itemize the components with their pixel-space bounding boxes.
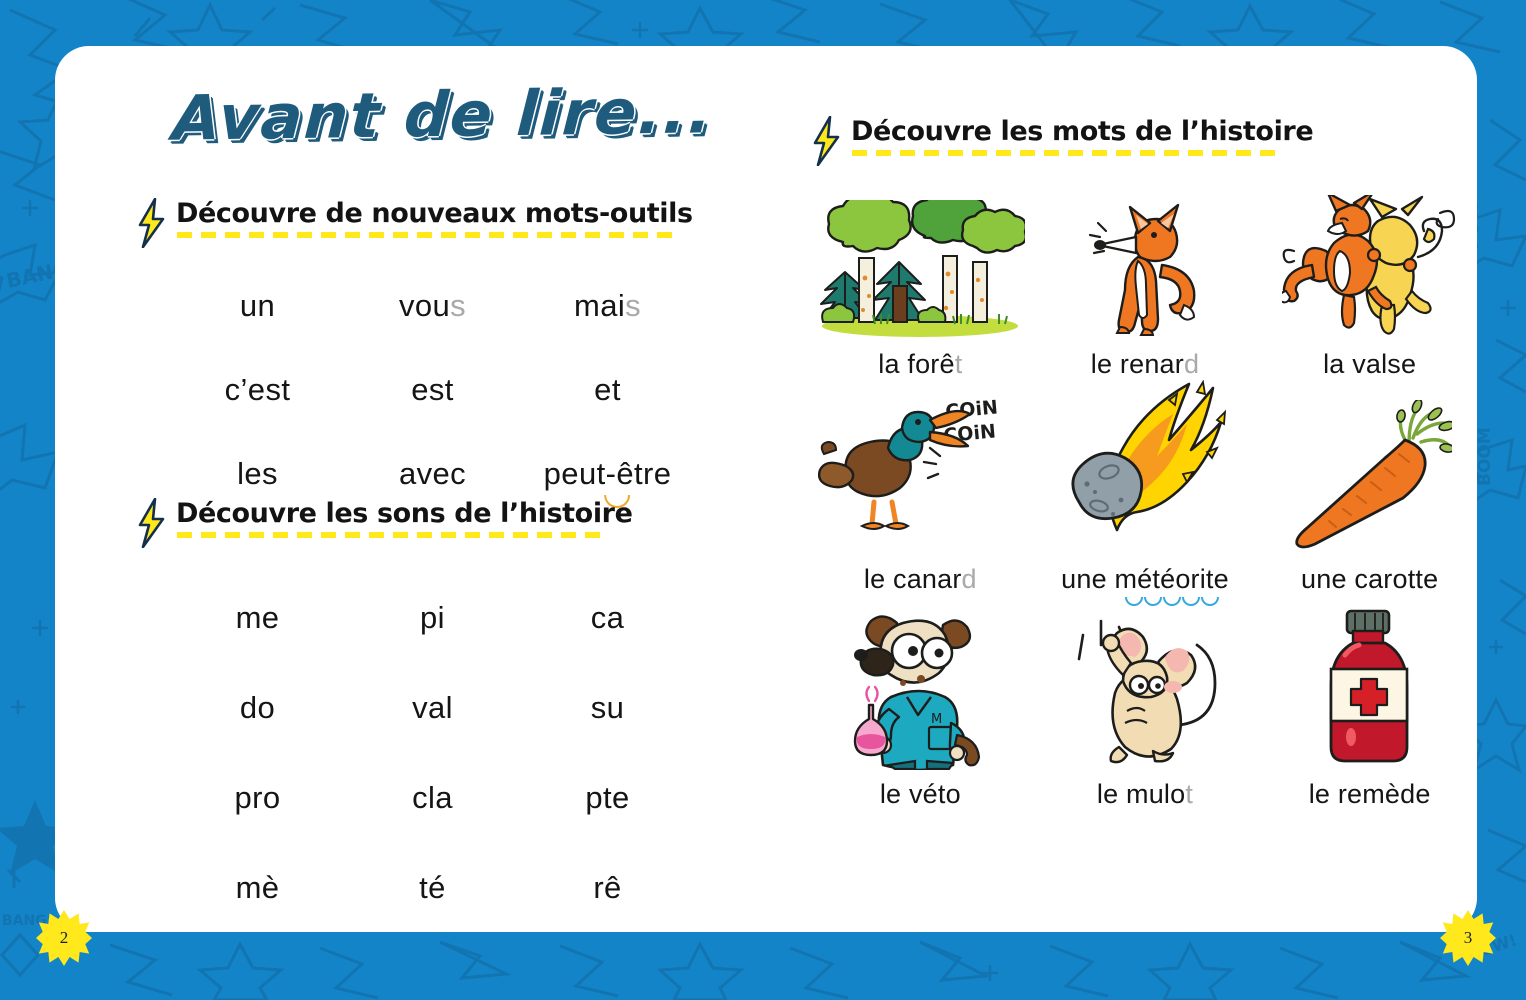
vocabulary-grid: la forêt	[810, 190, 1480, 810]
carrot-icon	[1259, 380, 1480, 555]
word-item[interactable]: les	[170, 456, 345, 492]
vocab-label: une météorite	[1061, 564, 1229, 595]
silent-letter: t	[1185, 779, 1193, 809]
right-page: Découvre les mots de l’histoire	[760, 0, 1480, 886]
mouse-icon	[1035, 595, 1256, 770]
syllable-item[interactable]: pte	[520, 780, 695, 816]
waltz-icon	[1259, 190, 1480, 340]
vocab-item-mulot[interactable]: le mulot	[1035, 595, 1256, 810]
vocab-label: la valse	[1323, 349, 1416, 380]
syllable-item[interactable]: val	[345, 690, 520, 726]
syllable-item[interactable]: do	[170, 690, 345, 726]
vocab-item-remede[interactable]: le remède	[1259, 595, 1480, 810]
syllable-item[interactable]: mè	[170, 870, 345, 906]
vet-dog-icon: M	[810, 595, 1031, 770]
word-grid-sons: me pi ca do val su pro cla pte mè té rê	[170, 600, 695, 906]
word-item[interactable]: vous	[345, 288, 520, 324]
vocab-label: le mulot	[1097, 779, 1193, 810]
section-heading-label: Découvre de nouveaux mots-outils	[176, 200, 693, 228]
page-title: Avant de lire...	[171, 74, 716, 155]
syllable-item[interactable]: rê	[520, 870, 695, 906]
vocab-label: la forêt	[878, 349, 962, 380]
section-heading-label: Découvre les mots de l’histoire	[851, 118, 1313, 146]
word-item[interactable]: un	[170, 288, 345, 324]
meteorite-icon	[1035, 380, 1256, 555]
syllable-item[interactable]: cla	[345, 780, 520, 816]
word-item[interactable]: avec	[345, 456, 520, 492]
svg-text:BOOM: BOOM	[0, 414, 3, 480]
heading-underline	[177, 532, 609, 538]
vocab-label: le renard	[1091, 349, 1199, 380]
left-page: Avant de lire... Découvre de nouveaux mo…	[55, 0, 755, 886]
syllable-arcs	[1125, 597, 1219, 606]
section-heading-label: Découvre les sons de l’histoire	[176, 500, 633, 528]
word-item[interactable]: peut-être	[520, 456, 695, 492]
fox-icon	[1035, 190, 1256, 340]
silent-letter: s	[450, 288, 466, 323]
vocab-item-canard[interactable]: COiN COiN	[810, 380, 1031, 595]
silent-letter: d	[962, 564, 977, 594]
word-item[interactable]: est	[345, 372, 520, 408]
heading-underline	[852, 150, 1284, 156]
vocab-item-foret[interactable]: la forêt	[810, 190, 1031, 380]
vocab-label: le remède	[1309, 779, 1431, 810]
lightning-bolt-icon	[810, 116, 842, 166]
vocab-label: une carotte	[1301, 564, 1438, 595]
vocab-label: le véto	[880, 779, 961, 810]
syllable-item[interactable]: su	[520, 690, 695, 726]
heading-underline	[177, 232, 677, 238]
book-spread: BANG! BOOM BANG! POW	[0, 0, 1526, 1000]
word-item[interactable]: mais	[520, 288, 695, 324]
lightning-bolt-icon	[135, 498, 167, 548]
silent-letter: t	[955, 349, 963, 379]
syllable-item[interactable]: pi	[345, 600, 520, 636]
vocab-item-valse[interactable]: la valse	[1259, 190, 1480, 380]
syllable-item[interactable]: té	[345, 870, 520, 906]
silent-letter: s	[625, 288, 641, 323]
section-heading-mots-histoire: Découvre les mots de l’histoire	[810, 118, 1313, 166]
section-heading-sons: Découvre les sons de l’histoire	[135, 500, 633, 548]
word-item[interactable]: c’est	[170, 372, 345, 408]
word-item[interactable]: et	[520, 372, 695, 408]
vocab-item-meteorite[interactable]: une météorite	[1035, 380, 1256, 595]
word-grid-mots-outils: un vous mais c’est est et les avec peut-…	[170, 288, 695, 492]
section-heading-mots-outils: Découvre de nouveaux mots-outils	[135, 200, 693, 248]
svg-text:M: M	[931, 712, 942, 727]
vocab-item-carotte[interactable]: une carotte	[1259, 380, 1480, 595]
syllable-item[interactable]: ca	[520, 600, 695, 636]
syllable-item[interactable]: pro	[170, 780, 345, 816]
lightning-bolt-icon	[135, 198, 167, 248]
vocab-item-veto[interactable]: M	[810, 595, 1031, 810]
medicine-icon	[1259, 595, 1480, 770]
syllable-item[interactable]: me	[170, 600, 345, 636]
forest-icon	[810, 190, 1031, 340]
duck-icon: COiN COiN	[810, 380, 1031, 555]
vocab-label: le canard	[864, 564, 977, 595]
vocab-item-renard[interactable]: le renard	[1035, 190, 1256, 380]
silent-letter: d	[1184, 349, 1199, 379]
